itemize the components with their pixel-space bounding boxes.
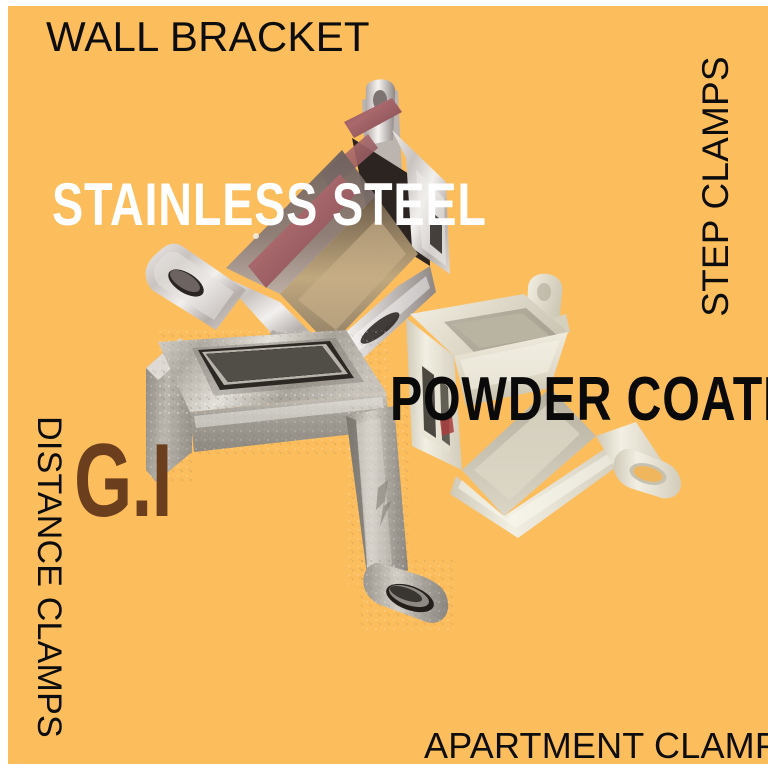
product-poster: STAINLESS STEEL POWDER COATED G.I WALL B… [0,0,768,768]
caption-wall-bracket: WALL BRACKET [46,16,370,58]
caption-distance-clamps: DISTANCE CLAMPS [32,416,66,738]
label-stainless-steel: STAINLESS STEEL [52,176,487,233]
caption-apartment-clamps: APARTMENT CLAMPS [424,728,768,764]
label-gi: G.I [74,432,172,531]
caption-step-clamps: STEP CLAMPS [697,56,734,317]
label-powder-coated: POWDER COATED [390,371,768,430]
